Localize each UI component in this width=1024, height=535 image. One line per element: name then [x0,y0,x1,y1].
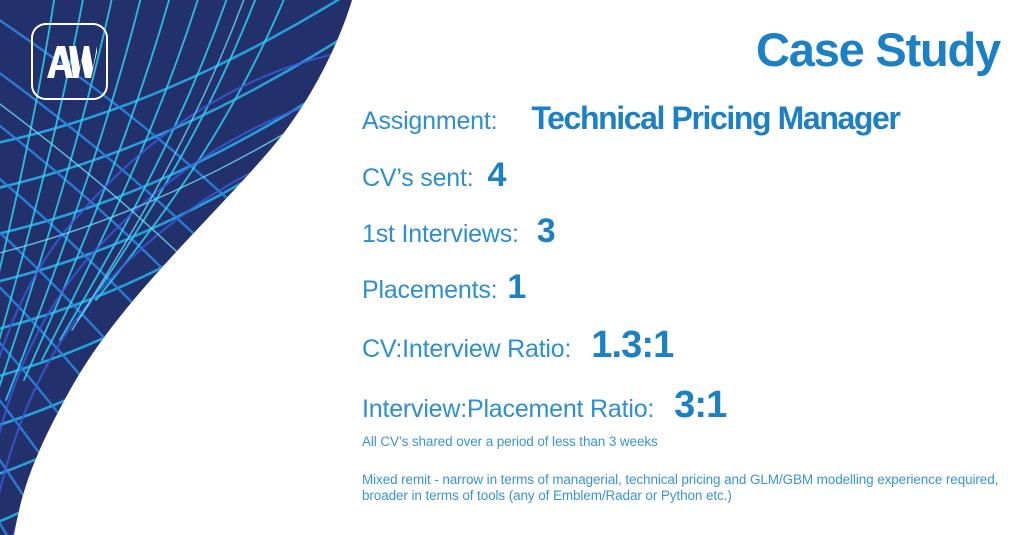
aw-logo [31,23,108,100]
case-study-slide: Case Study Assignment: Technical Pricing… [0,0,1024,535]
first-interviews-value: 3 [537,212,555,251]
row-placements: Placements: 1 [362,268,1012,307]
aw-monogram-icon [43,44,97,80]
footnote-timeframe: All CV’s shared over a period of less th… [362,434,1012,450]
placements-label: Placements: [362,276,497,305]
row-first-interviews: 1st Interviews: 3 [362,212,1012,251]
interview-placement-ratio-value: 3:1 [674,384,726,427]
assignment-label: Assignment: [362,107,497,136]
cv-interview-ratio-label: CV:Interview Ratio: [362,335,571,364]
placements-value: 1 [507,268,525,307]
row-interview-placement-ratio: Interview:Placement Ratio: 3:1 [362,384,1012,427]
row-cvs-sent: CV’s sent: 4 [362,156,1012,195]
assignment-value: Technical Pricing Manager [531,100,899,137]
interview-placement-ratio-label: Interview:Placement Ratio: [362,395,654,424]
footnotes: All CV’s shared over a period of less th… [362,434,1012,504]
case-study-details: Assignment: Technical Pricing Manager CV… [362,100,1012,427]
footnote-remit: Mixed remit - narrow in terms of manager… [362,472,1012,504]
row-cv-interview-ratio: CV:Interview Ratio: 1.3:1 [362,324,1012,367]
page-title: Case Study [756,24,1000,76]
cvs-sent-label: CV’s sent: [362,164,473,193]
cv-interview-ratio-value: 1.3:1 [591,324,673,367]
first-interviews-label: 1st Interviews: [362,220,519,249]
cvs-sent-value: 4 [487,156,505,195]
row-assignment: Assignment: Technical Pricing Manager [362,100,1012,137]
